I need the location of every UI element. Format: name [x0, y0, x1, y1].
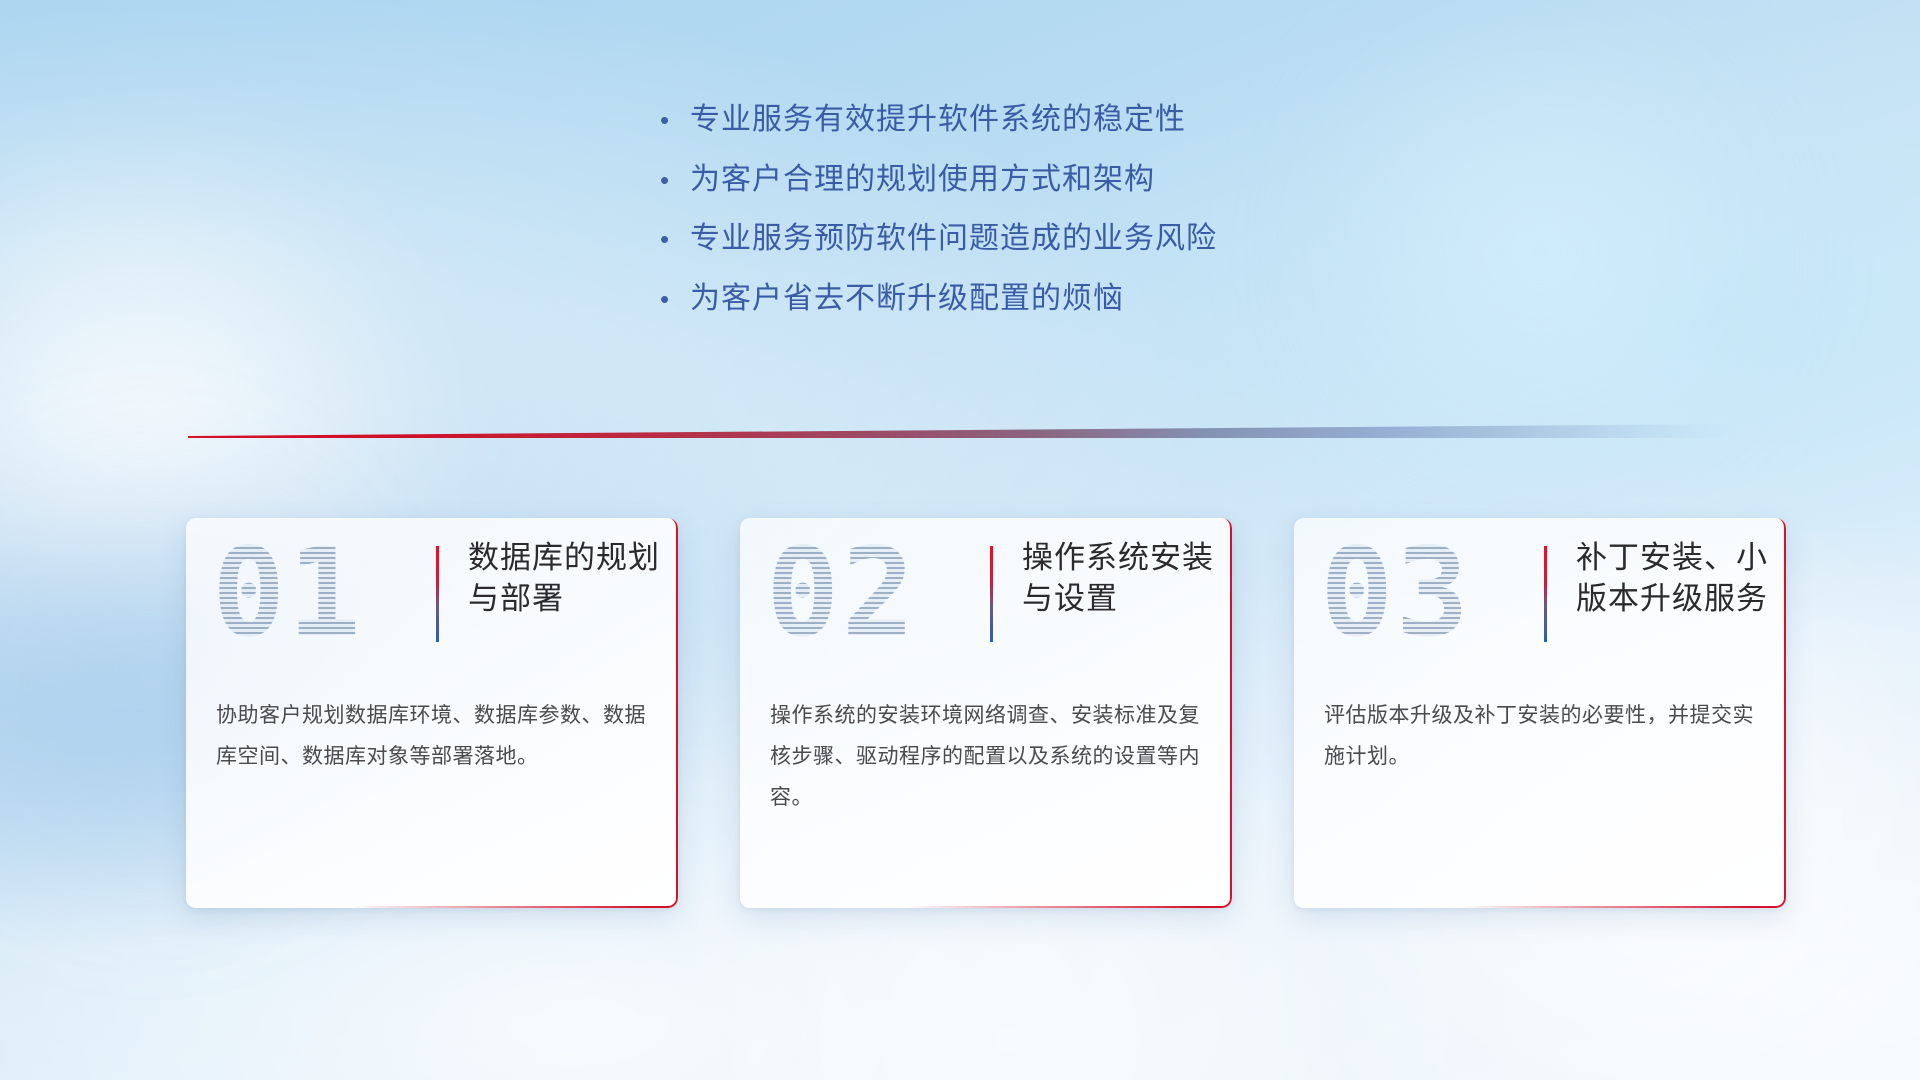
service-card-row: 01 01 数据库的规划与部署 协助客户规划数据库环境、数据库参数、数据库空间、… [186, 518, 1786, 918]
card-body-text: 评估版本升级及补丁安装的必要性，并提交实施计划。 [1324, 696, 1758, 778]
card-number-ghost: 01 [212, 532, 363, 654]
service-card[interactable]: 03 03 补丁安装、小版本升级服务 评估版本升级及补丁安装的必要性，并提交实施… [1294, 518, 1786, 908]
bullet-text: 为客户合理的规划使用方式和架构 [690, 160, 1155, 200]
card-header: 03 03 补丁安装、小版本升级服务 [1294, 518, 1786, 668]
bullet-text: 专业服务有效提升软件系统的稳定性 [690, 100, 1186, 140]
bullet-dot-icon: • [660, 167, 690, 193]
bullet-dot-icon: • [660, 107, 690, 133]
card-body-text: 协助客户规划数据库环境、数据库参数、数据库空间、数据库对象等部署落地。 [216, 696, 650, 778]
card-body-text: 操作系统的安装环境网络调查、安装标准及复核步骤、驱动程序的配置以及系统的设置等内… [770, 696, 1204, 819]
bullet-item: • 专业服务有效提升软件系统的稳定性 [660, 100, 1440, 140]
bullet-dot-icon: • [660, 226, 690, 252]
service-card[interactable]: 02 02 操作系统安装与设置 操作系统的安装环境网络调查、安装标准及复核步骤、… [740, 518, 1232, 908]
benefits-bullet-list: • 专业服务有效提升软件系统的稳定性 • 为客户合理的规划使用方式和架构 • 专… [660, 100, 1440, 338]
card-title-rule [990, 546, 993, 642]
card-header: 02 02 操作系统安装与设置 [740, 518, 1232, 668]
bullet-text: 专业服务预防软件问题造成的业务风险 [690, 219, 1217, 259]
divider-wedge [188, 424, 1734, 438]
service-card[interactable]: 01 01 数据库的规划与部署 协助客户规划数据库环境、数据库参数、数据库空间、… [186, 518, 678, 908]
bullet-text: 为客户省去不断升级配置的烦恼 [690, 279, 1124, 319]
card-title-rule [1544, 546, 1547, 642]
bullet-dot-icon: • [660, 286, 690, 312]
slide-canvas: • 专业服务有效提升软件系统的稳定性 • 为客户合理的规划使用方式和架构 • 专… [0, 0, 1920, 1080]
bullet-item: • 为客户合理的规划使用方式和架构 [660, 160, 1440, 200]
card-header: 01 01 数据库的规划与部署 [186, 518, 678, 668]
card-title: 数据库的规划与部署 [468, 538, 668, 620]
card-title-rule [436, 546, 439, 642]
section-divider [188, 424, 1734, 438]
bullet-item: • 专业服务预防软件问题造成的业务风险 [660, 219, 1440, 259]
card-title: 操作系统安装与设置 [1022, 538, 1222, 620]
card-number-ghost: 02 [766, 532, 917, 654]
card-title: 补丁安装、小版本升级服务 [1576, 538, 1776, 620]
bullet-item: • 为客户省去不断升级配置的烦恼 [660, 279, 1440, 319]
card-number-ghost: 03 [1320, 532, 1471, 654]
